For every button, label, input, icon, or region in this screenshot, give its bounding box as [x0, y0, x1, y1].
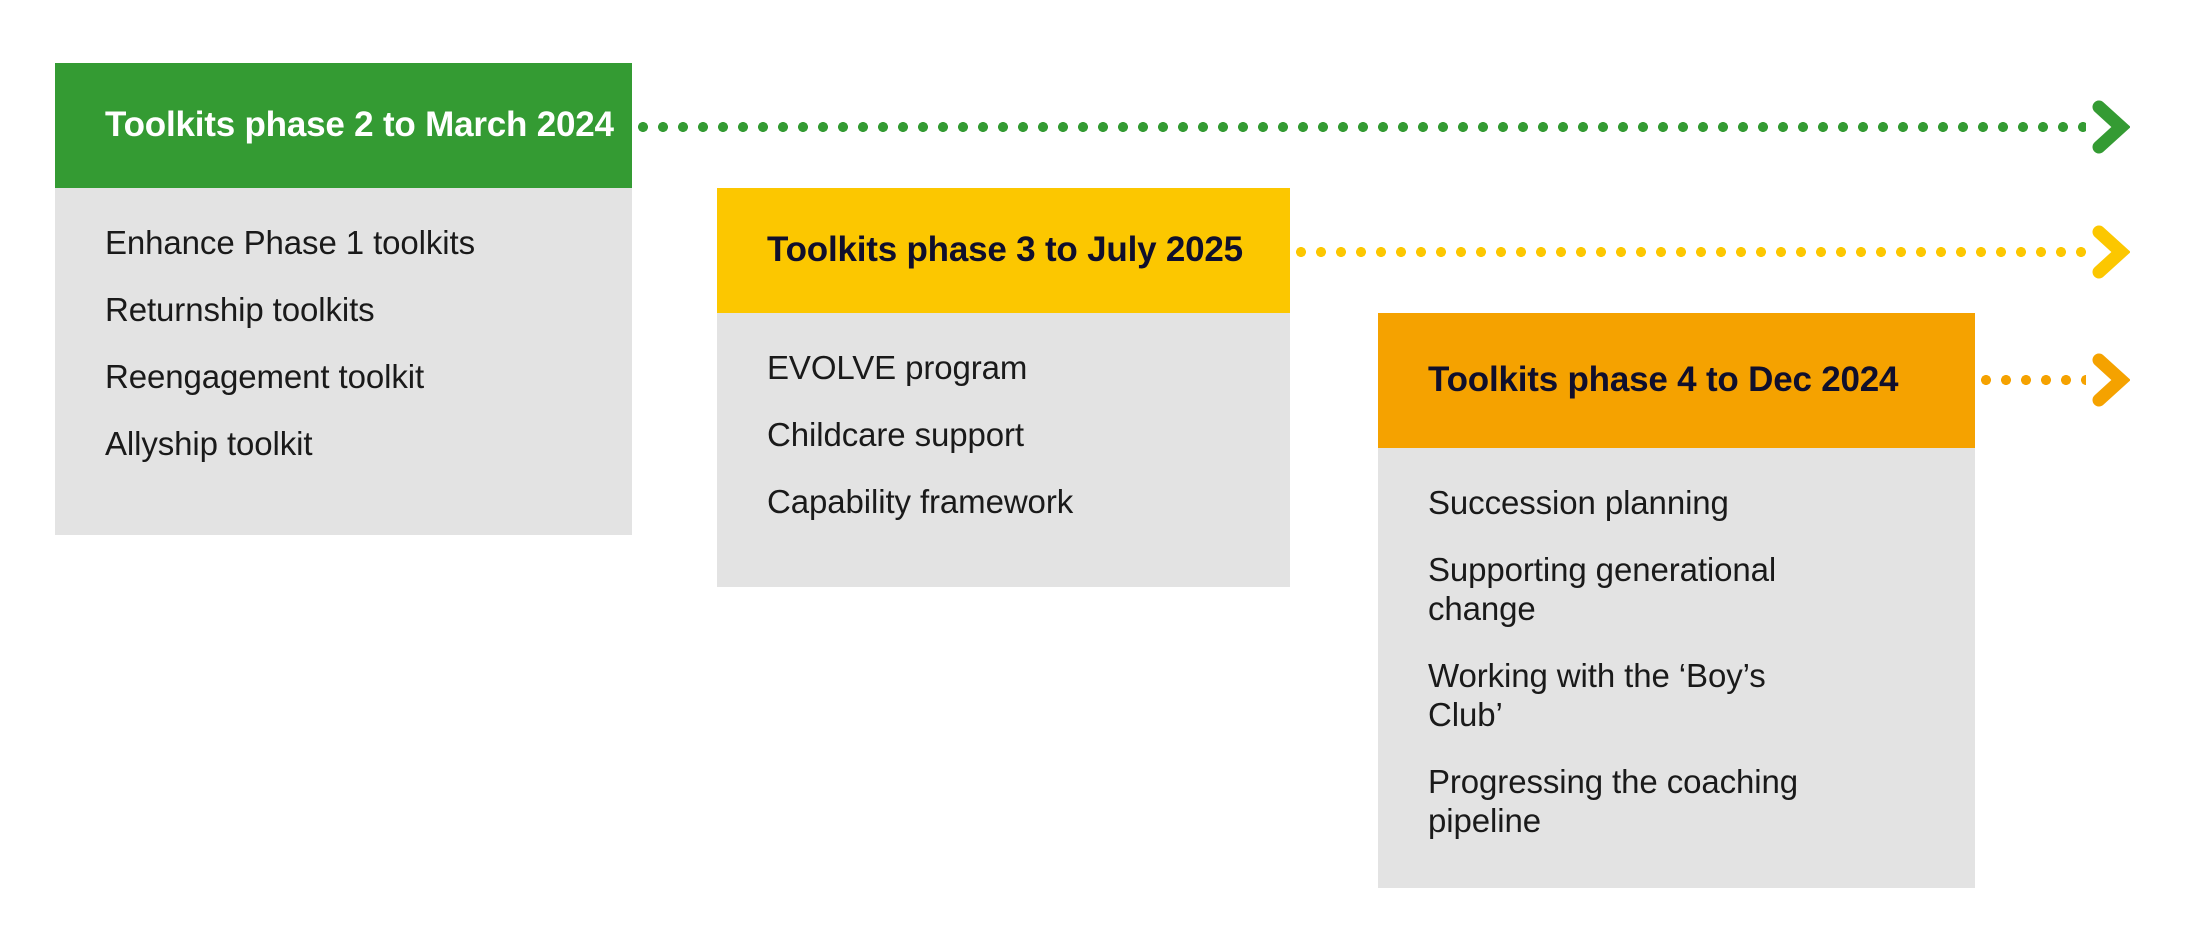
list-item: Allyship toolkit	[105, 425, 582, 464]
list-item: Working with the ‘Boy’s Club’	[1428, 657, 1848, 735]
phase-card-phase-3: Toolkits phase 3 to July 2025 EVOLVE pro…	[717, 188, 1290, 587]
list-item: Returnship toolkits	[105, 291, 582, 330]
connector-arrow-phase-4	[1981, 352, 2130, 408]
phase-card-phase-4: Toolkits phase 4 to Dec 2024 Succession …	[1378, 313, 1975, 888]
phase-header-phase-2: Toolkits phase 2 to March 2024	[55, 63, 632, 188]
list-item: EVOLVE program	[767, 349, 1240, 388]
dotted-line-phase-3	[1296, 247, 2086, 257]
list-item: Progressing the coaching pipeline	[1428, 763, 1848, 841]
dotted-line-phase-2	[638, 122, 2086, 132]
chevron-right-icon	[2090, 99, 2130, 155]
phase-body-phase-4: Succession planning Supporting generatio…	[1378, 448, 1975, 888]
phase-title: Toolkits phase 4 to Dec 2024	[1428, 361, 1898, 400]
chevron-right-icon	[2090, 224, 2130, 280]
phase-body-phase-3: EVOLVE program Childcare support Capabil…	[717, 313, 1290, 587]
phase-title: Toolkits phase 2 to March 2024	[105, 106, 614, 145]
connector-arrow-phase-2	[638, 99, 2130, 155]
list-item: Reengagement toolkit	[105, 358, 582, 397]
connector-arrow-phase-3	[1296, 224, 2130, 280]
chevron-right-icon	[2090, 352, 2130, 408]
phase-header-phase-4: Toolkits phase 4 to Dec 2024	[1378, 313, 1975, 448]
list-item: Supporting generational change	[1428, 551, 1848, 629]
list-item: Succession planning	[1428, 484, 1848, 523]
phase-title: Toolkits phase 3 to July 2025	[767, 231, 1243, 270]
list-item: Childcare support	[767, 416, 1240, 455]
roadmap-diagram: Toolkits phase 2 to March 2024 Enhance P…	[0, 0, 2185, 945]
phase-header-phase-3: Toolkits phase 3 to July 2025	[717, 188, 1290, 313]
phase-card-phase-2: Toolkits phase 2 to March 2024 Enhance P…	[55, 63, 632, 535]
phase-body-phase-2: Enhance Phase 1 toolkits Returnship tool…	[55, 188, 632, 535]
list-item: Capability framework	[767, 483, 1240, 522]
list-item: Enhance Phase 1 toolkits	[105, 224, 582, 263]
dotted-line-phase-4	[1981, 375, 2086, 385]
